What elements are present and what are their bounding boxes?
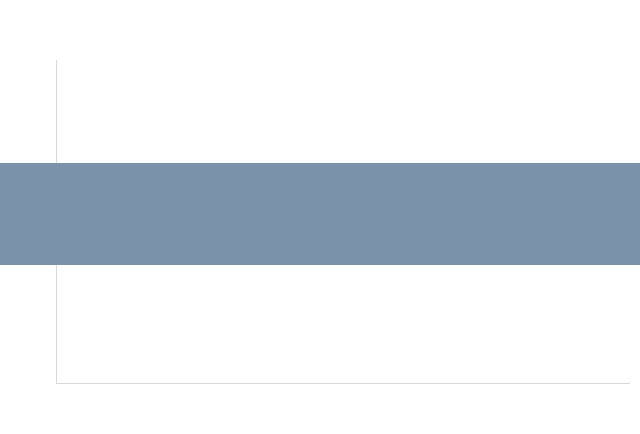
title-overlay-banner [0,163,640,265]
chart-screenshot [0,0,640,434]
x-axis-line [56,383,630,384]
